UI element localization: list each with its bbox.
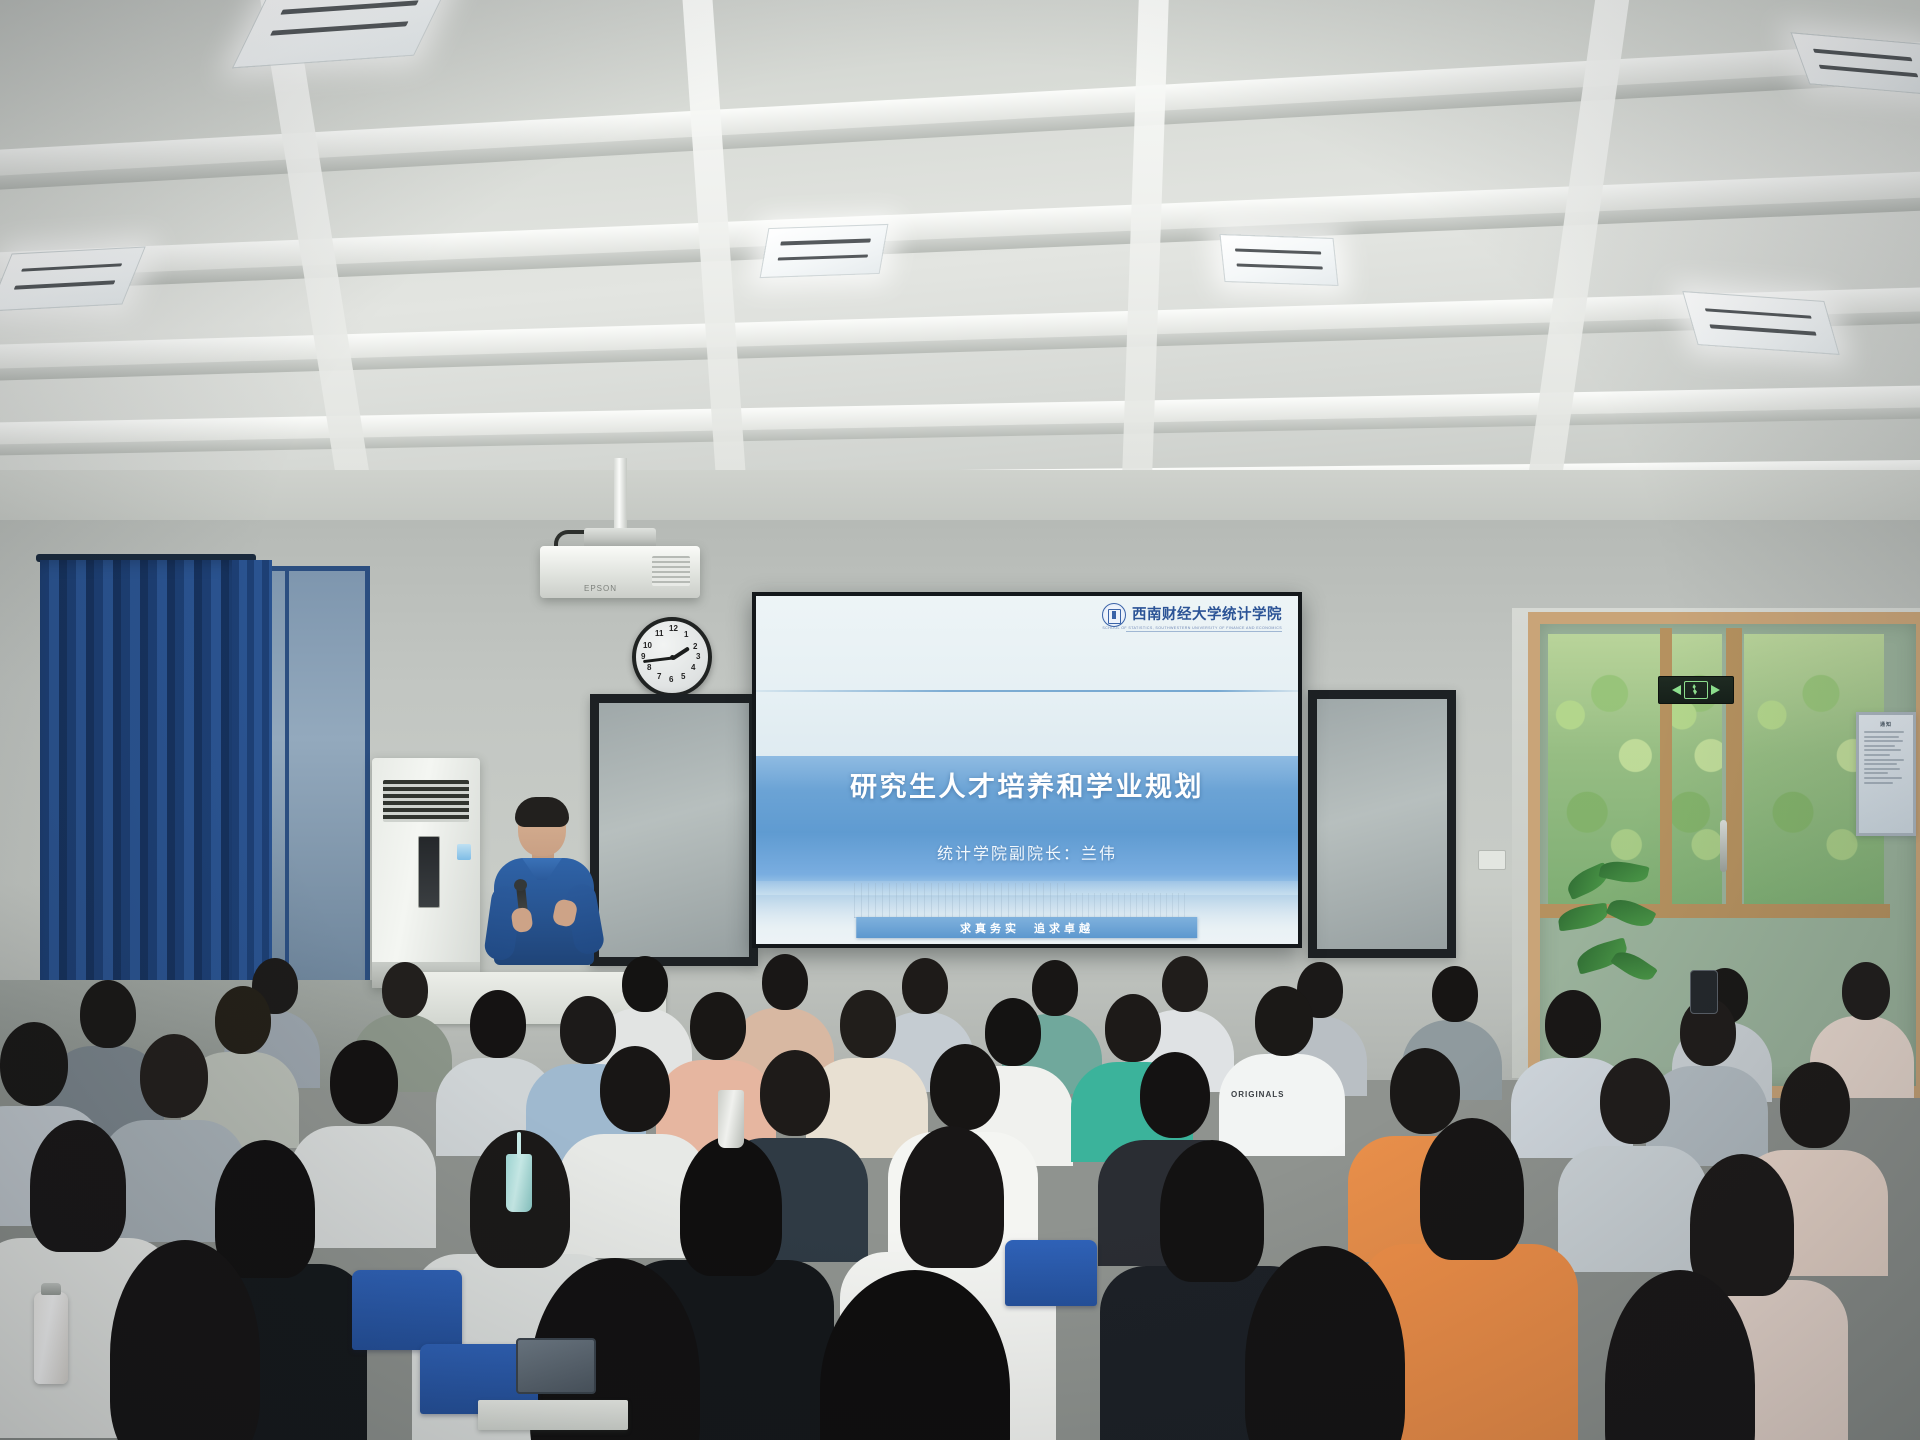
university-seal-icon	[1102, 603, 1126, 627]
classroom-chair[interactable]	[352, 1270, 462, 1350]
tablet-device[interactable]	[516, 1338, 596, 1394]
wall-clock: 12 1 2 3 4 5 6 7 8 9 10 11	[632, 617, 712, 697]
projector-brand-label: EPSON	[584, 584, 617, 593]
drink-cup[interactable]	[718, 1090, 744, 1148]
exit-arrow-right-icon	[1711, 685, 1720, 695]
motto-left-text: 求真务实	[960, 920, 1020, 936]
slide-surface: 西南财经大学统计学院 SCHOOL OF STATISTICS, SOUTHWE…	[756, 596, 1298, 944]
emergency-exit-sign	[1658, 676, 1734, 704]
phone-device[interactable]	[1690, 970, 1718, 1014]
running-person-icon	[1684, 681, 1708, 699]
ceiling-light-panel	[760, 224, 889, 278]
ac-vent-grille	[383, 780, 469, 822]
ceiling-light-panel	[1219, 234, 1338, 286]
ceiling-light-panel	[232, 0, 450, 68]
notice-title: 通知	[1864, 721, 1908, 728]
bottle-cap	[41, 1283, 61, 1295]
ceiling-projector: EPSON	[540, 546, 700, 598]
door-mullion	[1726, 628, 1742, 910]
whiteboard-right	[1308, 690, 1456, 958]
tshirt-brand-text: ORIGINALS	[1231, 1090, 1284, 1099]
clock-center-pin	[670, 655, 675, 660]
campus-building-sketch	[1070, 893, 1189, 918]
door-handle[interactable]	[1720, 820, 1727, 872]
wall-notice-board: 通知	[1856, 712, 1916, 836]
lecture-hall-photo: EPSON 12 1 2 3 4 5 6 7 8 9 10 11 西南财经大学统…	[0, 0, 1920, 1440]
classroom-chair[interactable]	[1005, 1240, 1097, 1306]
clock-minute-hand	[643, 657, 672, 663]
presenter-hair	[515, 797, 569, 827]
projector-pole	[614, 458, 627, 532]
slide-divider-rule	[756, 690, 1298, 692]
logo-underline	[1126, 631, 1282, 632]
projection-screen: 西南财经大学统计学院 SCHOOL OF STATISTICS, SOUTHWE…	[752, 592, 1302, 948]
door-glass-panel	[1672, 634, 1722, 904]
university-logo-subtext: SCHOOL OF STATISTICS, SOUTHWESTERN UNIVE…	[1102, 626, 1282, 630]
university-logo-text: 西南财经大学统计学院	[1132, 608, 1282, 623]
drink-cup[interactable]	[506, 1154, 532, 1212]
wall-socket[interactable]	[1478, 850, 1506, 870]
water-bottle[interactable]	[34, 1292, 68, 1384]
slide-subtitle: 统计学院副院长：兰伟	[756, 840, 1298, 864]
straw-icon	[517, 1132, 521, 1158]
ac-energy-label	[457, 844, 471, 860]
audience-seating: ORIGINALS	[0, 940, 1920, 1440]
campus-building-sketch	[854, 883, 1071, 918]
whiteboard-left	[590, 694, 758, 966]
projector-mount	[584, 528, 656, 548]
ac-display-panel	[418, 836, 440, 908]
motto-right-text: 追求卓越	[1034, 920, 1094, 936]
ceiling-light-panel	[1682, 291, 1839, 355]
ceiling-light-panel	[0, 246, 146, 311]
slide-title: 研究生人才培养和学业规划	[756, 765, 1298, 804]
exit-arrow-left-icon	[1672, 685, 1681, 695]
university-logo: 西南财经大学统计学院	[1102, 603, 1282, 627]
projector-vent	[652, 556, 690, 586]
slide-motto-bar: 求真务实 追求卓越	[856, 917, 1197, 938]
student-desk	[478, 1400, 628, 1430]
